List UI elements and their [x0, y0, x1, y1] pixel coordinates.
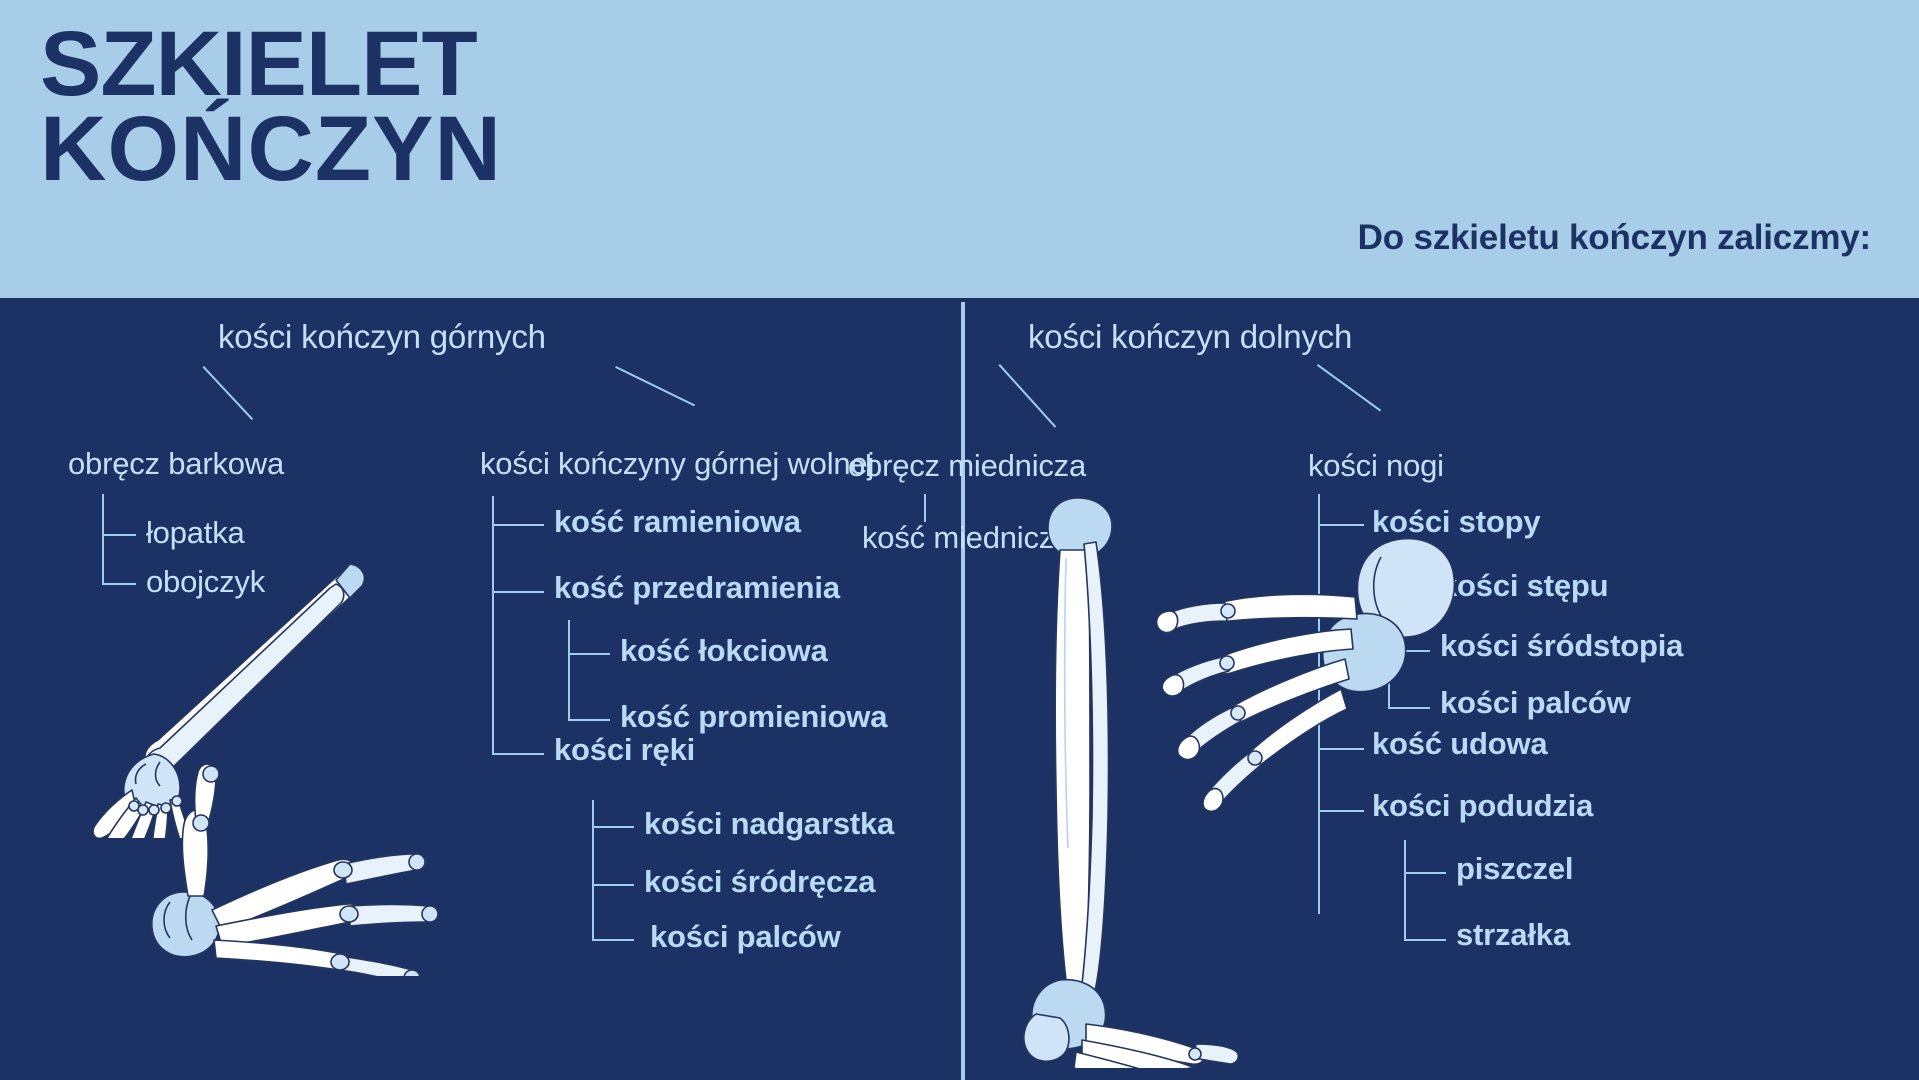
infographic-page: SZKIELET KOŃCZYN Do szkieletu kończyn za… [0, 0, 1919, 1080]
left-hand-tick-3 [592, 939, 634, 941]
left-hand-child-1: kości nadgarstka [644, 806, 894, 842]
page-subtitle: Do szkieletu kończyn zaliczmy: [1358, 218, 1871, 258]
left-hand-child-2: kości śródręcza [644, 864, 875, 900]
right-connector-root-to-pelvic [999, 364, 1057, 428]
panel-divider [961, 302, 965, 1080]
left-hand-child-3: kości palców [650, 919, 841, 955]
left-hand-tick-1 [592, 826, 634, 828]
left-branch-a-child-1: łopatka [146, 515, 245, 551]
right-shank-tick-1 [1404, 872, 1446, 874]
page-title: SZKIELET KOŃCZYN [40, 22, 880, 191]
left-forearm-child-1: kość łokciowa [620, 633, 828, 669]
right-shank-child-1: piszczel [1456, 851, 1573, 887]
left-branch-b-tick-3 [492, 753, 544, 755]
left-branch-b-tick-2 [492, 591, 544, 593]
left-branch-a-tick-1 [102, 534, 136, 536]
right-branch-b-label: kości nogi [1308, 448, 1444, 484]
left-connector-root-to-shoulder [203, 366, 254, 420]
right-shank-child-2: strzałka [1456, 917, 1570, 953]
left-branch-b-label: kości kończyny górnej wolnej [480, 446, 874, 482]
left-branch-b-trunk [492, 496, 494, 754]
right-shank-trunk [1404, 840, 1406, 940]
left-branch-b-child-1: kość ramieniowa [554, 504, 801, 540]
left-forearm-child-2: kość promieniowa [620, 699, 887, 735]
page-title-line-1: SZKIELET [40, 22, 880, 107]
left-hand-trunk [592, 800, 594, 940]
content-board: kości kończyn górnych obręcz barkowa łop… [0, 298, 1919, 1080]
left-branch-b-child-2: kość przedramienia [554, 570, 840, 606]
left-forearm-tick-2 [568, 719, 610, 721]
header-band: SZKIELET KOŃCZYN Do szkieletu kończyn za… [0, 0, 1919, 298]
right-shank-tick-2 [1404, 939, 1446, 941]
left-forearm-tick-1 [568, 653, 610, 655]
page-title-line-2: KOŃCZYN [40, 107, 880, 192]
left-branch-b-child-3: kości ręki [554, 732, 695, 768]
left-root-label: kości kończyn górnych [218, 318, 546, 356]
left-hand-tick-2 [592, 884, 634, 886]
left-branch-a-label: obręcz barkowa [68, 446, 284, 482]
right-branch-a-label: obręcz miednicza [848, 448, 1086, 484]
foot-bones-illustration [1155, 523, 1475, 853]
right-root-label: kości kończyn dolnych [1028, 318, 1352, 356]
left-forearm-trunk [568, 620, 570, 720]
right-branch-a-trunk [924, 494, 926, 522]
right-connector-root-to-leg [1317, 364, 1381, 411]
left-connector-root-to-free-limb [615, 366, 695, 406]
left-branch-b-tick-1 [492, 524, 544, 526]
right-foot-child-2: kości śródstopia [1440, 628, 1683, 664]
hand-bones-illustration [140, 696, 460, 976]
